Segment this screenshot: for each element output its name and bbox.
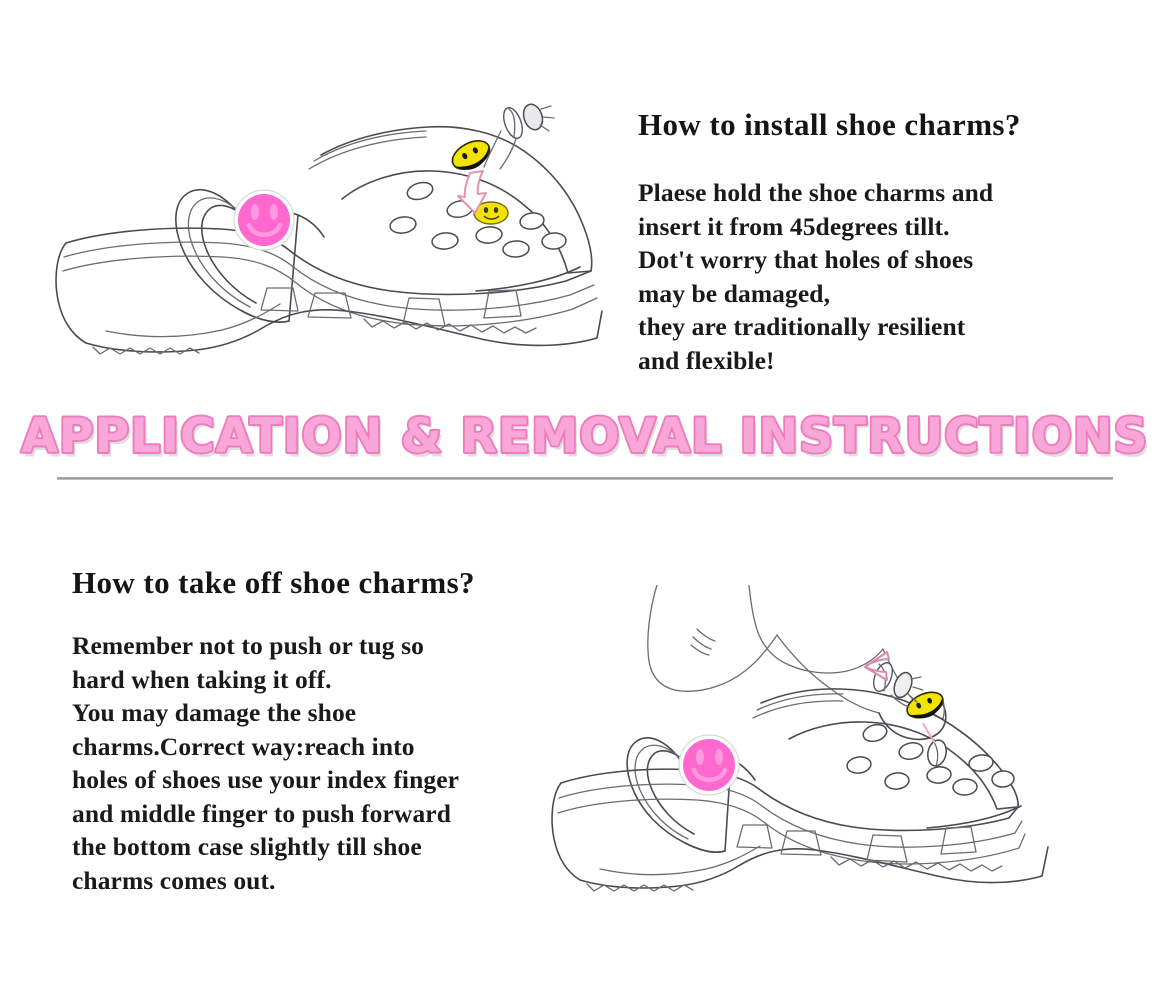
instruction-poster: How to install shoe charms? Plaese hold … <box>0 0 1170 1004</box>
install-body-line-5: they are traditionally resilient <box>638 310 993 344</box>
removal-body-line-6: and middle finger to push forward <box>72 797 459 831</box>
banner: APPLICATION & REMOVAL INSTRUCTIONS APPLI… <box>0 404 1170 470</box>
hand-reaching-icon <box>648 585 946 739</box>
install-body-line-6: and flexible! <box>638 344 993 378</box>
removal-body-line-3: You may damage the shoe <box>72 696 459 730</box>
charm-plug-popping-icon <box>925 738 948 767</box>
banner-svg: APPLICATION & REMOVAL INSTRUCTIONS APPLI… <box>0 404 1170 470</box>
removal-diagram-svg <box>545 585 1115 905</box>
clog-shoe-install-diagram <box>46 95 626 375</box>
removal-body-line-4: charms.Correct way:reach into <box>72 730 459 764</box>
removal-body-line-1: Remember not to push or tug so <box>72 629 459 663</box>
removal-body-line-2: hard when taking it off. <box>72 663 459 697</box>
charm-on-strap-icon <box>234 190 294 250</box>
removal-body-line-5: holes of shoes use your index finger <box>72 763 459 797</box>
install-heading: How to install shoe charms? <box>638 107 1021 143</box>
charm-cap-detail-icon <box>870 660 923 707</box>
install-diagram-svg <box>46 95 626 375</box>
clog-shoe-removal-diagram <box>545 585 1115 905</box>
install-body-line-4: may be damaged, <box>638 277 993 311</box>
charm-on-strap-icon-bottom <box>679 735 739 795</box>
section-divider <box>57 477 1113 480</box>
banner-fill-text: APPLICATION & REMOVAL INSTRUCTIONS <box>21 409 1148 464</box>
removal-body: Remember not to push or tug so hard when… <box>72 629 459 897</box>
charm-tilted-icon <box>448 135 495 176</box>
removal-body-line-8: charms comes out. <box>72 864 459 898</box>
removal-body-line-7: the bottom case slightly till shoe <box>72 830 459 864</box>
install-body-line-1: Plaese hold the shoe charms and <box>638 176 993 210</box>
removal-heading: How to take off shoe charms? <box>72 565 475 601</box>
install-body-line-2: insert it from 45degrees tillt. <box>638 210 993 244</box>
install-body: Plaese hold the shoe charms and insert i… <box>638 176 993 377</box>
install-body-line-3: Dot't worry that holes of shoes <box>638 243 993 277</box>
